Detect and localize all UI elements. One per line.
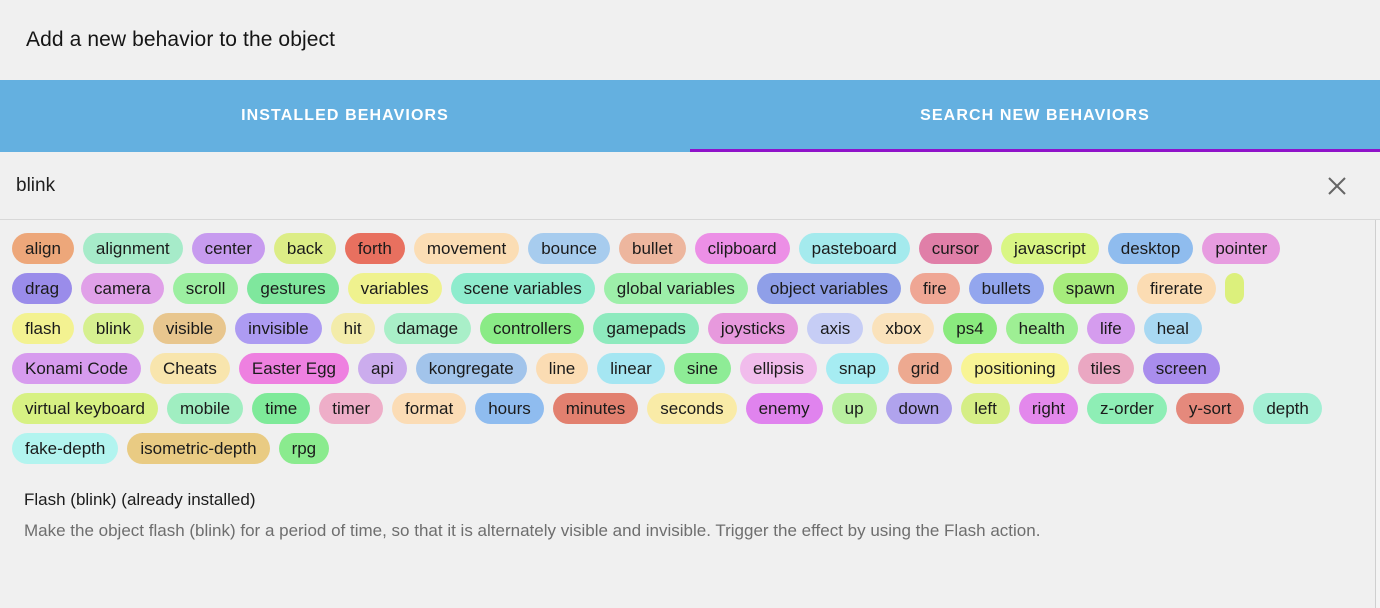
tag-back[interactable]: back — [274, 233, 336, 264]
tab-bar: INSTALLED BEHAVIORS SEARCH NEW BEHAVIORS — [0, 80, 1380, 152]
tag-easter-egg[interactable]: Easter Egg — [239, 353, 349, 384]
result-description: Make the object flash (blink) for a peri… — [24, 520, 1348, 541]
tag-left[interactable]: left — [961, 393, 1010, 424]
tag-heal[interactable]: heal — [1144, 313, 1202, 344]
tag-visible[interactable]: visible — [153, 313, 226, 344]
clear-search-button[interactable] — [1322, 171, 1352, 201]
tag-format[interactable]: format — [392, 393, 466, 424]
tag-cheats[interactable]: Cheats — [150, 353, 230, 384]
tag-drag[interactable]: drag — [12, 273, 72, 304]
tag-gestures[interactable]: gestures — [247, 273, 338, 304]
tag-bullet[interactable]: bullet — [619, 233, 686, 264]
tag-life[interactable]: life — [1087, 313, 1135, 344]
tag-health[interactable]: health — [1006, 313, 1078, 344]
tag-bullets[interactable]: bullets — [969, 273, 1044, 304]
tag-desktop[interactable]: desktop — [1108, 233, 1194, 264]
tag-bounce[interactable]: bounce — [528, 233, 610, 264]
tag-rpg[interactable]: rpg — [279, 433, 330, 464]
tag-global-variables[interactable]: global variables — [604, 273, 748, 304]
result-title: Flash (blink) (already installed) — [24, 490, 1348, 510]
tag-fire[interactable]: fire — [910, 273, 960, 304]
tag-minutes[interactable]: minutes — [553, 393, 639, 424]
tag-camera[interactable]: camera — [81, 273, 164, 304]
tag-pointer[interactable]: pointer — [1202, 233, 1280, 264]
tag-isometric-depth[interactable]: isometric-depth — [127, 433, 269, 464]
search-bar — [0, 152, 1380, 220]
tag-row: flashblinkvisibleinvisiblehitdamagecontr… — [12, 308, 1364, 348]
tag-variables[interactable]: variables — [348, 273, 442, 304]
tag-pasteboard[interactable]: pasteboard — [799, 233, 910, 264]
tag-row: fake-depthisometric-depthrpg — [12, 428, 1364, 468]
tag-center[interactable]: center — [192, 233, 265, 264]
tag-cloud: alignalignmentcenterbackforthmovementbou… — [0, 220, 1380, 608]
tag-cursor[interactable]: cursor — [919, 233, 992, 264]
tag-ps4[interactable]: ps4 — [943, 313, 996, 344]
tag-controllers[interactable]: controllers — [480, 313, 584, 344]
tab-installed-behaviors[interactable]: INSTALLED BEHAVIORS — [0, 80, 690, 152]
tag-linear[interactable]: linear — [597, 353, 665, 384]
tag-ellipsis[interactable]: ellipsis — [740, 353, 817, 384]
tag-forth[interactable]: forth — [345, 233, 405, 264]
tag-movement[interactable]: movement — [414, 233, 519, 264]
scrollbar-thumb[interactable] — [1376, 220, 1380, 608]
tag-hit[interactable]: hit — [331, 313, 375, 344]
tag-depth[interactable]: depth — [1253, 393, 1322, 424]
tag-fake-depth[interactable]: fake-depth — [12, 433, 118, 464]
tag-positioning[interactable]: positioning — [961, 353, 1068, 384]
tag-clipboard[interactable]: clipboard — [695, 233, 790, 264]
tag-api[interactable]: api — [358, 353, 407, 384]
tag-axis[interactable]: axis — [807, 313, 863, 344]
tag-konami-code[interactable]: Konami Code — [12, 353, 141, 384]
tag-rows: alignalignmentcenterbackforthmovementbou… — [12, 228, 1364, 468]
tag-up[interactable]: up — [832, 393, 877, 424]
tag-hours[interactable]: hours — [475, 393, 544, 424]
tag-row: alignalignmentcenterbackforthmovementbou… — [12, 228, 1364, 268]
tag-damage[interactable]: damage — [384, 313, 471, 344]
tag-scroll[interactable]: scroll — [173, 273, 239, 304]
tag-right[interactable]: right — [1019, 393, 1078, 424]
result-block: Flash (blink) (already installed) Make t… — [12, 468, 1364, 541]
tag-virtual-keyboard[interactable]: virtual keyboard — [12, 393, 158, 424]
tag-blank[interactable] — [1225, 273, 1244, 304]
tag-xbox[interactable]: xbox — [872, 313, 934, 344]
tag-blink[interactable]: blink — [83, 313, 144, 344]
tag-timer[interactable]: timer — [319, 393, 383, 424]
tag-tiles[interactable]: tiles — [1078, 353, 1134, 384]
tag-z-order[interactable]: z-order — [1087, 393, 1167, 424]
vertical-scrollbar[interactable] — [1375, 220, 1380, 608]
tag-kongregate[interactable]: kongregate — [416, 353, 527, 384]
tag-alignment[interactable]: alignment — [83, 233, 183, 264]
tag-javascript[interactable]: javascript — [1001, 233, 1099, 264]
close-icon — [1326, 175, 1348, 197]
page-title: Add a new behavior to the object — [26, 28, 335, 52]
tag-down[interactable]: down — [886, 393, 953, 424]
add-behavior-dialog: Add a new behavior to the object INSTALL… — [0, 0, 1380, 608]
tag-row: virtual keyboardmobiletimetimerformathou… — [12, 388, 1364, 428]
tag-row: Konami CodeCheatsEaster Eggapikongregate… — [12, 348, 1364, 388]
tag-line[interactable]: line — [536, 353, 588, 384]
tag-mobile[interactable]: mobile — [167, 393, 243, 424]
tag-sine[interactable]: sine — [674, 353, 731, 384]
tag-object-variables[interactable]: object variables — [757, 273, 901, 304]
tag-joysticks[interactable]: joysticks — [708, 313, 798, 344]
tab-installed-behaviors-label: INSTALLED BEHAVIORS — [241, 107, 449, 125]
tab-search-new-behaviors[interactable]: SEARCH NEW BEHAVIORS — [690, 80, 1380, 152]
dialog-title-bar: Add a new behavior to the object — [0, 0, 1380, 80]
tag-enemy[interactable]: enemy — [746, 393, 823, 424]
tag-seconds[interactable]: seconds — [647, 393, 736, 424]
tag-grid[interactable]: grid — [898, 353, 952, 384]
tag-align[interactable]: align — [12, 233, 74, 264]
tag-row: dragcamerascrollgesturesvariablesscene v… — [12, 268, 1364, 308]
tag-flash[interactable]: flash — [12, 313, 74, 344]
tag-scene-variables[interactable]: scene variables — [451, 273, 595, 304]
tag-screen[interactable]: screen — [1143, 353, 1220, 384]
tag-spawn[interactable]: spawn — [1053, 273, 1128, 304]
tag-snap[interactable]: snap — [826, 353, 889, 384]
tab-search-new-behaviors-label: SEARCH NEW BEHAVIORS — [920, 107, 1150, 125]
search-input[interactable] — [16, 175, 1322, 197]
tag-gamepads[interactable]: gamepads — [593, 313, 698, 344]
tag-firerate[interactable]: firerate — [1137, 273, 1216, 304]
tag-invisible[interactable]: invisible — [235, 313, 321, 344]
tag-y-sort[interactable]: y-sort — [1176, 393, 1245, 424]
tag-time[interactable]: time — [252, 393, 310, 424]
